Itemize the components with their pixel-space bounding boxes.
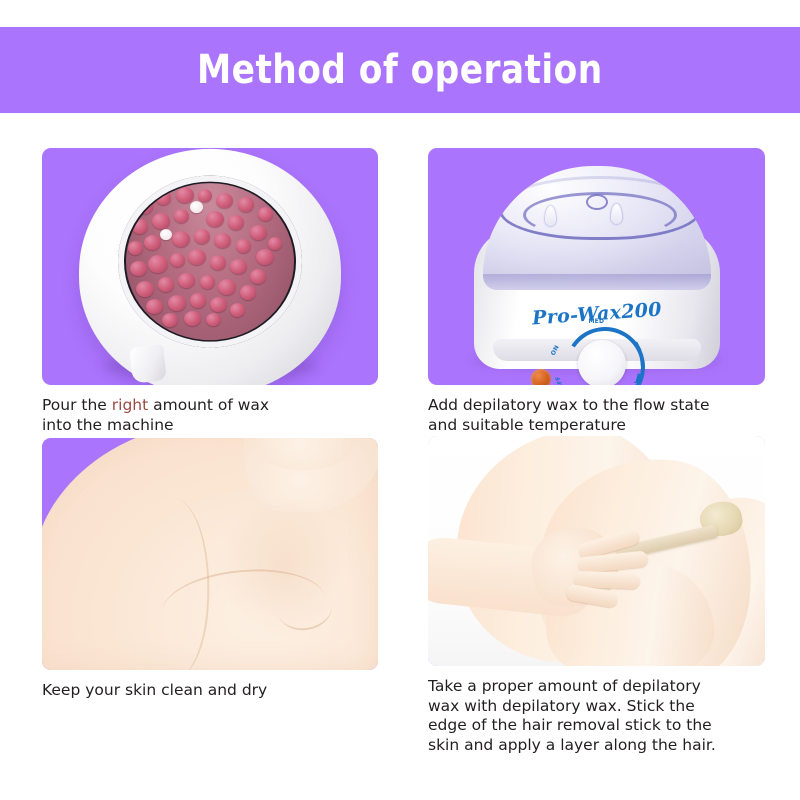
caption-highlight-right: right (112, 396, 148, 414)
dial-tick (639, 357, 643, 367)
wax-pot-handle (129, 344, 167, 383)
wax-bead (184, 311, 201, 326)
wax-bead (162, 313, 178, 327)
page-title: Method of operation (197, 47, 603, 93)
wax-bead-pale (160, 229, 172, 240)
wax-bead (198, 189, 212, 202)
wax-bead (214, 233, 231, 248)
wax-bead (258, 207, 273, 221)
wax-bead (128, 241, 143, 255)
wax-bead (240, 285, 256, 300)
wax-bead (256, 249, 274, 265)
wax-bead (210, 255, 226, 270)
wax-bead (210, 297, 227, 312)
wax-bead (144, 235, 161, 250)
wax-bead-bowl (126, 183, 294, 340)
step-card-4: Take a proper amount of depilatory wax w… (428, 436, 765, 755)
wax-bead (158, 277, 174, 292)
wax-bead-pale (190, 201, 203, 213)
caption-line-2: into the machine (42, 416, 174, 434)
wax-bead (148, 255, 168, 273)
wax-bead (168, 295, 186, 311)
wax-bead (238, 197, 254, 212)
step-2-caption: Add depilatory wax to the flow state and… (428, 396, 765, 435)
step-4-image (428, 436, 765, 666)
wax-bead (200, 275, 215, 289)
wax-bead (156, 191, 171, 205)
wax-bead (136, 199, 153, 214)
wax-bead (206, 211, 224, 227)
step-1-caption: Pour the right amount of waxinto the mac… (42, 396, 378, 435)
caption-text-part: amount of wax (148, 396, 269, 414)
caption-text-part: Pour the (42, 396, 112, 414)
wax-bead (230, 259, 247, 274)
step-1-image (42, 148, 378, 385)
step-card-3: Keep your skin clean and dry (42, 438, 378, 701)
wax-bead (228, 215, 244, 230)
step-4-caption: Take a proper amount of depilatory wax w… (428, 677, 765, 755)
dial-knob[interactable] (578, 340, 626, 385)
lid-band (483, 274, 711, 290)
lid-drop (545, 206, 556, 226)
warmer-lid (483, 166, 711, 290)
wax-bead (250, 269, 266, 284)
wax-bead (206, 313, 221, 326)
wax-pot-body (79, 148, 341, 385)
wax-bead (172, 231, 190, 247)
wax-bead (132, 219, 148, 234)
wax-bead (268, 237, 282, 250)
lid-drop (611, 204, 622, 224)
wax-pot-rim (118, 175, 302, 347)
page-header-banner: Method of operation (0, 27, 800, 113)
wax-bead (176, 187, 194, 203)
wax-bead (216, 193, 233, 208)
wax-bead (236, 239, 251, 253)
step-2-image: Pro-Wax200 MED ON OFF LOW HI (428, 148, 765, 385)
wax-bead (136, 281, 154, 297)
wax-bead (178, 273, 195, 288)
wax-bead (190, 293, 206, 308)
step-3-image (42, 438, 378, 670)
lid-knob (586, 194, 608, 210)
wax-bead (174, 209, 189, 223)
wax-bead (194, 229, 210, 244)
dial-label-med: MED (589, 318, 605, 325)
dial-label-off: OFF (554, 375, 566, 385)
wax-bead (188, 249, 206, 265)
wax-bead (130, 261, 147, 276)
wax-bead (146, 299, 163, 314)
wax-bead (218, 279, 236, 295)
wax-bead (230, 303, 245, 317)
wax-bead (170, 253, 185, 267)
wax-bead (152, 213, 170, 229)
wax-bead (250, 225, 267, 240)
step-card-2: Pro-Wax200 MED ON OFF LOW HI Add (428, 148, 765, 435)
temperature-dial: MED ON OFF LOW HI (557, 323, 653, 385)
power-indicator-light (531, 369, 551, 385)
step-card-1: Pour the right amount of waxinto the mac… (42, 148, 378, 435)
step-3-caption: Keep your skin clean and dry (42, 681, 378, 701)
